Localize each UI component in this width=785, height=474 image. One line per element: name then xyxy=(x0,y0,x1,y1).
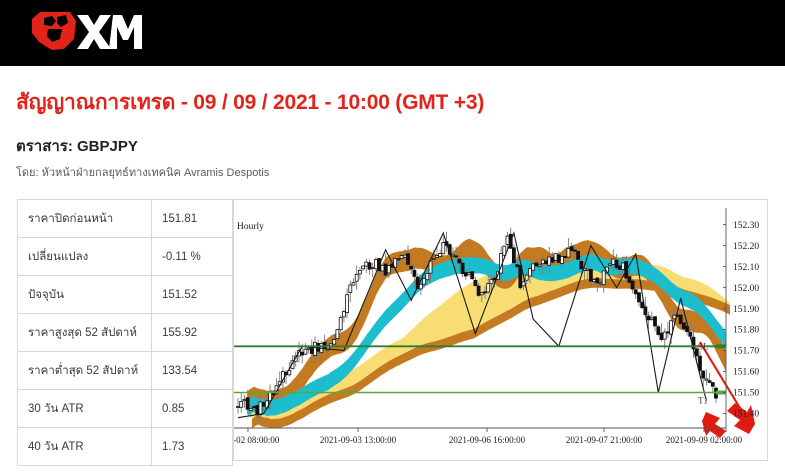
x-axis-tick-label: 2021-09-07 21:00:00 xyxy=(566,435,643,445)
candle-body xyxy=(314,342,317,355)
y-axis-tick-label: 151.70 xyxy=(733,347,759,357)
candle-body xyxy=(548,257,551,265)
candle-body xyxy=(336,330,339,339)
candle-body xyxy=(423,279,426,285)
candle-body xyxy=(580,261,583,269)
candle-body xyxy=(538,265,541,267)
candle-body xyxy=(259,402,262,415)
candle-body xyxy=(561,257,564,264)
candle-body xyxy=(586,269,589,270)
candle-body xyxy=(458,259,461,263)
y-axis-tick-label: 151.40 xyxy=(733,410,759,420)
candle-body xyxy=(307,348,310,349)
candle-body xyxy=(403,255,406,257)
candle-body xyxy=(589,269,592,281)
table-row: 30 วัน ATR 0.85 xyxy=(18,390,232,428)
candle-body xyxy=(567,249,570,258)
candle-body xyxy=(551,258,554,263)
candle-body xyxy=(358,270,361,274)
stat-label: ราคาปิดก่อนหน้า xyxy=(18,200,152,237)
author-byline: โดย: หัวหน้าฝ่ายกลยุทธ์ทางเทคนิค Avramis… xyxy=(16,163,269,181)
candle-body xyxy=(577,251,580,259)
candle-body xyxy=(410,266,413,269)
y-axis-tick-label: 152.10 xyxy=(733,263,759,273)
stat-value: 0.85 xyxy=(152,390,232,427)
candle-body xyxy=(573,250,576,251)
candle-body xyxy=(442,243,445,254)
stat-label: ราคาต่ำสุด 52 สัปดาห์ xyxy=(18,352,152,389)
candle-body xyxy=(557,255,560,263)
candle-body xyxy=(650,318,653,320)
stat-value: 133.54 xyxy=(152,352,232,389)
y-axis-tick-label: 151.90 xyxy=(733,305,759,315)
table-row: ราคาสูงสุด 52 สัปดาห์ 155.92 xyxy=(18,314,232,352)
candle-body xyxy=(609,264,612,265)
x-axis-tick-label: 2021-09-03 13:00:00 xyxy=(320,435,397,445)
stat-value: 1.73 xyxy=(152,428,232,465)
candle-body xyxy=(237,406,240,407)
candle-body xyxy=(593,280,596,282)
candle-body xyxy=(647,316,650,320)
candle-body xyxy=(477,286,480,295)
candle-body xyxy=(657,327,660,335)
candle-body xyxy=(262,402,265,406)
sl-axis-label: SL xyxy=(698,341,709,351)
top-bar xyxy=(0,0,785,66)
candle-body xyxy=(711,383,714,387)
candle-body xyxy=(541,260,544,264)
candle-body xyxy=(362,266,365,269)
stat-value: 155.92 xyxy=(152,314,232,351)
table-row: ราคาต่ำสุด 52 สัปดาห์ 133.54 xyxy=(18,352,232,390)
candle-body xyxy=(310,348,313,354)
candle-body xyxy=(246,398,249,410)
candle-body xyxy=(484,292,487,293)
candle-body xyxy=(349,285,352,293)
candle-body xyxy=(679,315,682,324)
candle-body xyxy=(634,290,637,294)
candle-body xyxy=(599,283,602,284)
candle-body xyxy=(381,265,384,271)
stat-value: 151.81 xyxy=(152,200,232,237)
candle-body xyxy=(660,333,663,340)
candle-body xyxy=(413,270,416,276)
candle-body xyxy=(596,278,599,283)
instrument-label: ตราสาร: GBPJPY xyxy=(16,134,138,158)
candle-body xyxy=(628,277,631,283)
price-chart[interactable]: 152.30152.20152.10152.00151.90151.80151.… xyxy=(233,199,768,461)
candle-body xyxy=(622,263,625,269)
candle-body xyxy=(368,263,371,270)
stat-value: -0.11 % xyxy=(152,238,232,275)
table-row: ปัจจุบัน 151.52 xyxy=(18,276,232,314)
y-axis-tick-label: 152.30 xyxy=(733,221,759,231)
candle-body xyxy=(525,275,528,280)
candle-body xyxy=(432,258,435,259)
candle-body xyxy=(654,317,657,326)
candle-body xyxy=(333,340,336,345)
candle-body xyxy=(666,332,669,333)
candle-body xyxy=(301,352,304,355)
y-axis-tick-label: 152.20 xyxy=(733,242,759,252)
candle-body xyxy=(461,263,464,274)
candle-body xyxy=(468,273,471,275)
candle-body xyxy=(673,315,676,319)
y-axis-tick-label: 151.80 xyxy=(733,326,759,336)
candle-body xyxy=(564,256,567,257)
x-axis-tick-label: 1-09-02 08:00:00 xyxy=(234,435,280,445)
stat-label: เปลี่ยนแปลง xyxy=(18,238,152,275)
candle-body xyxy=(682,323,685,329)
stat-label: 40 วัน ATR xyxy=(18,428,152,465)
candle-body xyxy=(304,349,307,354)
candle-body xyxy=(426,273,429,279)
candle-body xyxy=(663,332,666,339)
candle-body xyxy=(490,279,493,283)
candle-body xyxy=(397,259,400,260)
candle-body xyxy=(638,293,641,302)
x-axis-tick-label: 2021-09-06 16:00:00 xyxy=(449,435,526,445)
candle-body xyxy=(615,260,618,268)
candle-body xyxy=(618,266,621,270)
candle-body xyxy=(464,273,467,276)
xm-bull-logo-icon[interactable] xyxy=(30,9,142,55)
candle-body xyxy=(612,259,615,265)
candle-body xyxy=(602,271,605,285)
candle-body xyxy=(419,284,422,289)
candle-body xyxy=(487,284,490,292)
candle-body xyxy=(699,356,702,370)
candle-body xyxy=(545,261,548,264)
candle-body xyxy=(365,262,368,266)
candle-body xyxy=(480,293,483,295)
candle-body xyxy=(249,408,252,410)
candle-body xyxy=(435,256,438,258)
candle-body xyxy=(243,400,246,401)
candle-body xyxy=(384,264,387,275)
candle-body xyxy=(352,283,355,286)
candle-body xyxy=(554,254,557,261)
sl-level-marker xyxy=(716,344,726,348)
stats-table: ราคาปิดก่อนหน้า 151.81 เปลี่ยนแปลง -0.11… xyxy=(17,199,233,466)
y-axis-tick-label: 151.60 xyxy=(733,368,759,378)
candle-body xyxy=(708,381,711,383)
candle-body xyxy=(240,401,243,407)
candle-body xyxy=(455,256,458,257)
candle-body xyxy=(342,312,345,317)
candle-body xyxy=(631,281,634,289)
candle-body xyxy=(387,266,390,273)
candle-body xyxy=(439,253,442,256)
candle-body xyxy=(516,265,519,267)
y-axis-tick-label: 151.50 xyxy=(733,389,759,399)
t1-axis-label: T1 xyxy=(698,396,708,406)
candle-body xyxy=(407,254,410,265)
candle-body xyxy=(451,255,454,256)
candle-body xyxy=(374,260,377,269)
stat-label: ปัจจุบัน xyxy=(18,276,152,313)
candle-body xyxy=(506,236,509,244)
candle-body xyxy=(702,371,705,378)
candle-body xyxy=(371,267,374,268)
stat-value: 151.52 xyxy=(152,276,232,313)
candle-body xyxy=(471,272,474,279)
stat-label: ราคาสูงสุด 52 สัปดาห์ xyxy=(18,314,152,351)
candle-body xyxy=(355,274,358,281)
table-row: 40 วัน ATR 1.73 xyxy=(18,428,232,466)
candle-body xyxy=(512,248,515,263)
table-row: เปลี่ยนแปลง -0.11 % xyxy=(18,238,232,276)
candle-body xyxy=(400,256,403,259)
chart-timeframe-label: Hourly xyxy=(237,222,264,232)
candle-body xyxy=(532,264,535,270)
table-row: ราคาปิดก่อนหน้า 151.81 xyxy=(18,200,232,238)
candle-body xyxy=(570,247,573,251)
y-axis-tick-label: 152.00 xyxy=(733,284,759,294)
candle-body xyxy=(535,263,538,266)
stat-label: 30 วัน ATR xyxy=(18,390,152,427)
page-title: สัญญาณการเทรด - 09 / 09 / 2021 - 10:00 (… xyxy=(16,86,484,119)
candle-body xyxy=(705,379,708,380)
candle-body xyxy=(528,269,531,276)
candle-body xyxy=(474,280,477,285)
candle-body xyxy=(323,342,326,348)
candle-body xyxy=(339,318,342,330)
candle-body xyxy=(253,407,256,408)
candle-body xyxy=(256,406,259,415)
x-axis-tick-label: 2021-09-09 02:00:00 xyxy=(666,435,743,445)
candle-body xyxy=(346,295,349,313)
